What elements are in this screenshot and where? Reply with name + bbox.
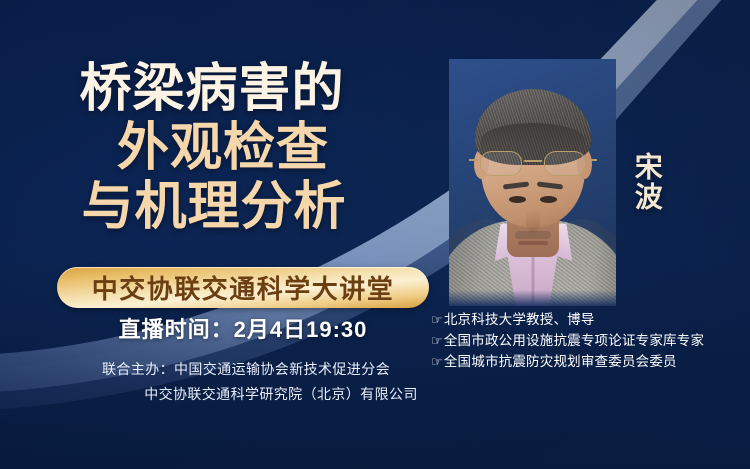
series-badge: 中交协联交通科学大讲堂 (57, 267, 429, 308)
photo-eye-left (509, 196, 526, 203)
title-line-2: 外观检查 (26, 121, 420, 176)
photo-glasses-bridge (524, 160, 542, 162)
photo-lens-right (544, 151, 586, 176)
webinar-poster: 桥梁病害的 外观检查 与机理分析 中交协联交通科学大讲堂 直播时间：2月4日19… (0, 0, 750, 469)
credential-item: ☞ 全国城市抗震防灾规划审查委员会委员 (431, 352, 749, 373)
title-line-3: 与机理分析 (8, 180, 420, 235)
organizer-line-2: 中交协联交通科学研究院（北京）有限公司 (0, 382, 492, 407)
photo-glasses-temple-left (469, 159, 478, 161)
series-badge-label: 中交协联交通科学大讲堂 (92, 269, 395, 306)
speaker-photo (449, 59, 616, 306)
pointing-hand-icon: ☞ (431, 310, 443, 330)
credential-item: ☞ 全国市政公用设施抗震专项论证专家库专家 (431, 331, 749, 352)
photo-eyebrow-right (536, 181, 562, 189)
credential-text: 全国城市抗震防灾规划审查委员会委员 (444, 352, 677, 373)
organizers-block: 联合主办：中国交通运输协会新技术促进分会 中交协联交通科学研究院（北京）有限公司 (0, 357, 492, 406)
title-line-1: 桥梁病害的 (4, 62, 420, 117)
speaker-name: 宋波 (629, 152, 664, 212)
pointing-hand-icon: ☞ (431, 331, 443, 351)
photo-mouth (518, 241, 548, 245)
photo-glasses-temple-right (588, 159, 597, 161)
organizer-line-1: 联合主办：中国交通运输协会新技术促进分会 (0, 357, 492, 382)
speaker-credentials: ☞ 北京科技大学教授、博导 ☞ 全国市政公用设施抗震专项论证专家库专家 ☞ 全国… (431, 310, 749, 373)
credential-item: ☞ 北京科技大学教授、博导 (431, 310, 749, 331)
photo-eye-right (540, 196, 557, 203)
photo-eyebrow-left (502, 181, 528, 189)
glasses-icon (477, 151, 589, 177)
photo-nose (526, 209, 540, 233)
photo-lens-left (480, 151, 522, 176)
poster-title: 桥梁病害的 外观检查 与机理分析 (0, 62, 420, 235)
photo-moustache (515, 231, 551, 239)
pointing-hand-icon: ☞ (431, 352, 443, 372)
credential-text: 全国市政公用设施抗震专项论证专家库专家 (444, 331, 704, 352)
credential-text: 北京科技大学教授、博导 (444, 310, 595, 331)
live-time: 直播时间：2月4日19:30 (0, 312, 486, 344)
photo-bottom-fade (449, 290, 616, 306)
